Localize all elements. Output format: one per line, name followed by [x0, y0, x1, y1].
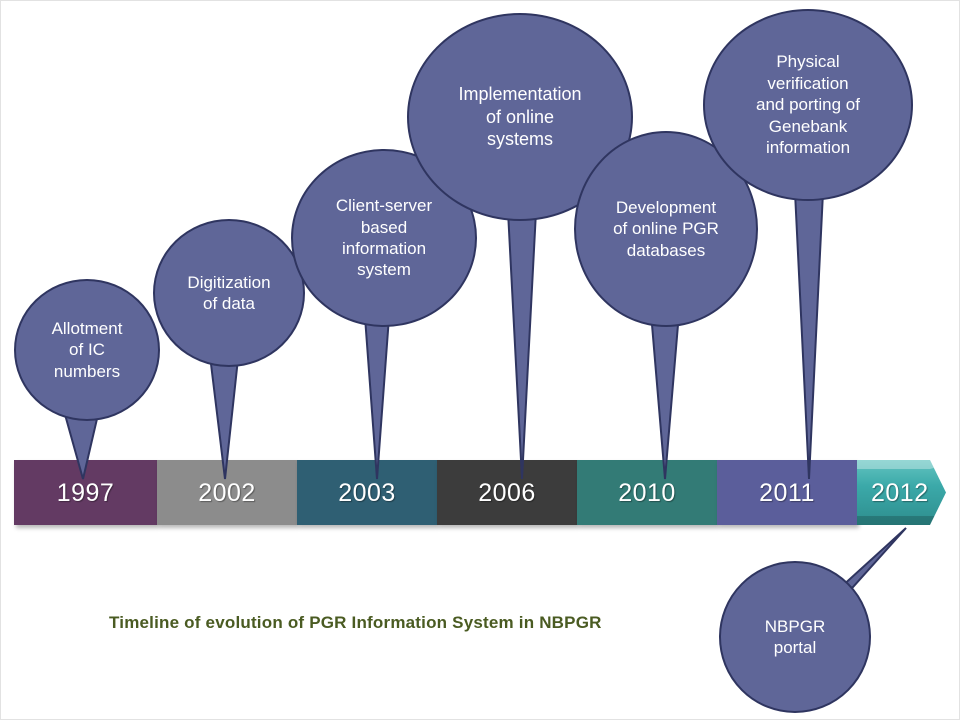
milestone-bubble-2011[interactable]: Physical verification and porting of Gen…	[703, 9, 913, 201]
milestone-label-2011: Physical verification and porting of Gen…	[756, 51, 860, 158]
milestone-bubble-2012[interactable]: NBPGR portal	[719, 561, 871, 713]
milestone-label-2006: Implementation of online systems	[458, 83, 581, 151]
milestone-bubble-2002[interactable]: Digitization of data	[153, 219, 305, 367]
milestone-label-2010: Development of online PGR databases	[613, 197, 719, 261]
milestone-label-1997: Allotment of IC numbers	[52, 318, 123, 382]
milestone-label-2012: NBPGR portal	[765, 616, 825, 659]
milestone-label-2002: Digitization of data	[187, 272, 270, 315]
milestone-label-2003: Client-server based information system	[336, 195, 432, 281]
milestone-bubble-1997[interactable]: Allotment of IC numbers	[14, 279, 160, 421]
timeline-diagram: Allotment of IC numbers Digitization of …	[0, 0, 960, 720]
